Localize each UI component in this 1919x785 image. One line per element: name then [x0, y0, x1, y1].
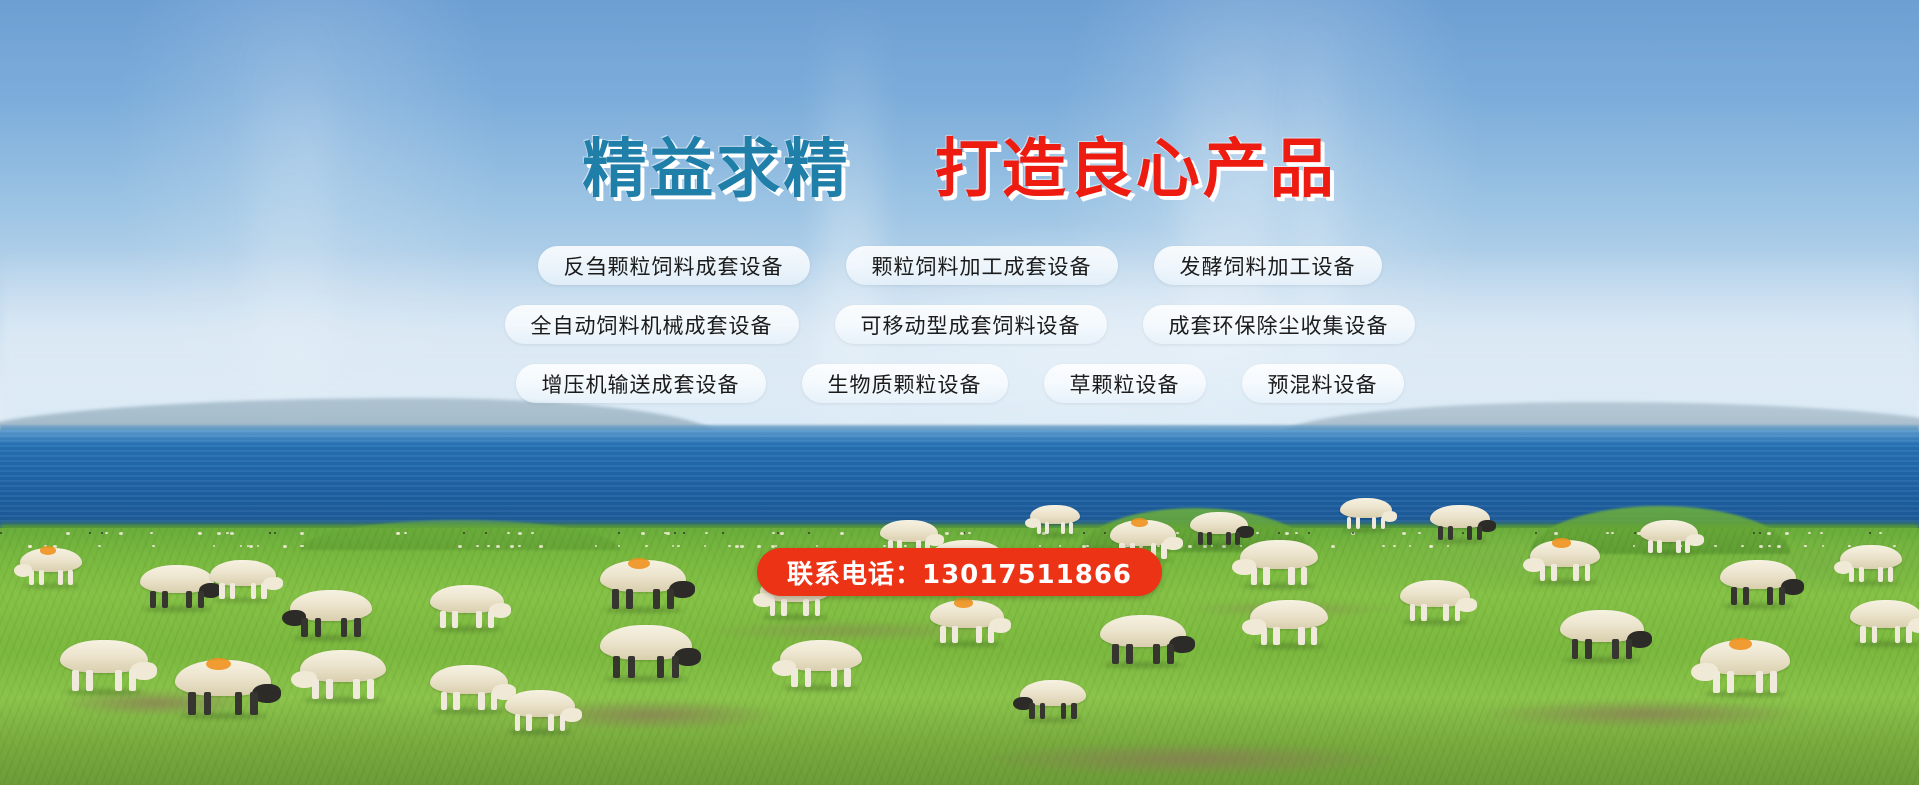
sheep	[600, 625, 692, 679]
sheep-leg	[1347, 517, 1351, 530]
distant-sheep-speck	[1606, 532, 1609, 534]
distant-sheep-speck	[404, 532, 407, 534]
product-category-row: 增压机输送成套设备生物质颗粒设备草颗粒设备预混料设备	[0, 364, 1919, 403]
sheep-leg	[1273, 627, 1279, 645]
sheep-leg	[526, 714, 532, 731]
distant-sheep-speck	[968, 532, 971, 534]
distant-sheep-speck	[230, 532, 234, 535]
sheep	[1560, 610, 1644, 660]
distant-sheep-speck	[518, 532, 522, 535]
sheep-leg	[1727, 671, 1734, 693]
distant-sheep-speck	[618, 532, 620, 534]
sheep-leg	[1061, 522, 1065, 534]
sheep-leg	[770, 599, 776, 616]
distant-sheep-speck	[1753, 532, 1755, 534]
sheep-leg	[1713, 671, 1720, 693]
distant-sheep-speck	[1382, 545, 1385, 547]
distant-sheep-speck	[1285, 532, 1289, 535]
distant-sheep-speck	[1352, 532, 1354, 534]
distant-sheep-speck	[722, 532, 724, 534]
sheep-leg	[1438, 526, 1443, 540]
distant-sheep-speck	[704, 545, 706, 547]
contact-banner: 联系电话：13017511866	[0, 548, 1919, 596]
sheep	[1030, 505, 1080, 535]
sheep-leg	[1298, 627, 1304, 645]
contact-phone-button[interactable]: 联系电话：13017511866	[757, 548, 1162, 596]
sheep-leg	[1421, 604, 1427, 621]
product-category-pill[interactable]: 草颗粒设备	[1044, 364, 1206, 403]
distant-sheep-speck	[1409, 545, 1411, 547]
distant-sheep-speck	[1554, 532, 1558, 535]
distant-sheep-speck	[645, 545, 648, 547]
sheep-leg	[672, 656, 679, 678]
sheep-leg	[1311, 627, 1317, 645]
distant-sheep-speck	[1418, 532, 1421, 534]
distant-sheep-speck	[485, 532, 487, 534]
distant-sheep-speck	[1083, 532, 1085, 534]
distant-sheep-speck	[152, 545, 155, 547]
product-category-pill[interactable]: 增压机输送成套设备	[516, 364, 766, 403]
distant-sheep-speck	[119, 532, 123, 535]
sheep-leg	[1872, 626, 1878, 644]
sheep	[1850, 600, 1919, 644]
sheep-leg	[1261, 627, 1267, 645]
sheep-leg	[1381, 517, 1385, 530]
sheep-leg	[831, 668, 838, 687]
sheep-leg	[1153, 644, 1160, 664]
product-category-row: 反刍颗粒饲料成套设备颗粒饲料加工成套设备发酵饲料加工设备	[0, 246, 1919, 285]
distant-sheep-speck	[595, 545, 597, 547]
distant-sheep-speck	[463, 532, 465, 534]
product-category-pill[interactable]: 反刍颗粒饲料成套设备	[538, 246, 810, 285]
sheep-leg	[315, 618, 322, 637]
distant-sheep-speck	[1393, 545, 1396, 547]
sheep-leg	[1356, 517, 1360, 530]
sheep-leg	[1895, 626, 1901, 644]
sheep-leg	[1126, 644, 1133, 664]
product-category-pill[interactable]: 全自动饲料机械成套设备	[505, 305, 799, 344]
sheep-leg	[1585, 639, 1592, 659]
distant-sheep-speck	[683, 532, 685, 534]
sheep-paint-mark	[1552, 538, 1570, 547]
distant-sheep-speck	[1308, 532, 1310, 534]
distant-sheep-speck	[274, 532, 276, 534]
distant-sheep-speck	[1759, 532, 1761, 534]
sheep-paint-mark	[206, 658, 231, 670]
distant-sheep-speck	[1879, 532, 1882, 534]
distant-sheep-speck	[705, 532, 708, 534]
distant-sheep-speck	[1611, 532, 1614, 534]
sheep	[930, 600, 1004, 644]
distant-sheep-speck	[1256, 532, 1259, 534]
sheep-leg	[1448, 526, 1453, 540]
distant-sheep-speck	[300, 532, 304, 535]
sheep-leg	[1626, 639, 1633, 659]
distant-sheep-speck	[1633, 545, 1635, 547]
distant-sheep-speck	[240, 545, 242, 547]
product-category-pill[interactable]: 颗粒饲料加工成套设备	[846, 246, 1118, 285]
sheep-leg	[86, 670, 93, 691]
sheep-leg	[478, 692, 484, 710]
page-title: 精益求精 打造良心产品	[0, 138, 1919, 202]
distant-sheep-speck	[1447, 545, 1449, 547]
sheep-leg	[1045, 522, 1049, 534]
sheep-leg	[613, 656, 620, 678]
sheep-leg	[72, 670, 79, 691]
sheep-leg	[1770, 671, 1777, 693]
distant-sheep-speck	[1869, 532, 1871, 534]
sheep-leg	[312, 679, 319, 699]
distant-sheep-speck	[476, 545, 479, 547]
sheep-leg	[488, 611, 494, 629]
distant-sheep-speck	[1104, 532, 1106, 534]
sheep-paint-mark	[954, 598, 973, 608]
sheep-leg	[1455, 604, 1461, 621]
product-category-pill[interactable]: 生物质颗粒设备	[802, 364, 1008, 403]
sheep-leg	[1029, 703, 1034, 719]
sheep	[1020, 680, 1086, 720]
sheep	[1250, 600, 1328, 646]
distant-sheep-speck	[269, 532, 271, 534]
distant-sheep-speck	[775, 545, 777, 547]
distant-sheep-speck	[728, 545, 731, 547]
sheep	[1340, 498, 1392, 530]
distant-sheep-speck	[507, 532, 510, 534]
sheep-leg	[1112, 644, 1119, 664]
distant-sheep-speck	[1768, 545, 1771, 547]
distant-sheep-speck	[1808, 532, 1811, 534]
distant-sheep-speck	[772, 532, 775, 534]
distant-sheep-speck	[101, 532, 103, 534]
sheep-leg	[940, 626, 946, 644]
sheep-leg	[815, 599, 821, 616]
distant-sheep-speck	[1741, 545, 1744, 547]
sheep-leg	[367, 679, 374, 699]
promo-banner: 精益求精 打造良心产品 反刍颗粒饲料成套设备颗粒饲料加工成套设备发酵饲料加工设备…	[0, 0, 1919, 785]
sheep-leg	[791, 668, 798, 687]
distant-sheep-speck	[664, 532, 667, 534]
dirt-patch	[1480, 700, 1810, 728]
dirt-patch	[980, 742, 1400, 776]
distant-sheep-speck	[150, 532, 153, 534]
distant-sheep-speck	[945, 532, 949, 535]
distant-sheep-speck	[816, 545, 818, 547]
sheep-leg	[301, 618, 308, 637]
product-category-pill[interactable]: 预混料设备	[1242, 364, 1404, 403]
sheep-leg	[1612, 639, 1619, 659]
distant-sheep-speck	[257, 545, 259, 547]
sheep-leg	[1906, 626, 1912, 644]
product-category-pill[interactable]: 成套环保除尘收集设备	[1143, 305, 1415, 344]
sheep	[300, 650, 386, 700]
sheep-leg	[803, 599, 809, 616]
sheep-leg	[441, 692, 447, 710]
distant-sheep-speck	[960, 532, 964, 535]
sheep	[1430, 505, 1490, 541]
sheep-leg	[1167, 644, 1174, 664]
sheep-leg	[491, 692, 497, 710]
sheep	[60, 640, 148, 692]
sheep-leg	[560, 714, 566, 731]
sheep-leg	[1069, 522, 1073, 534]
distant-sheep-speck	[1714, 545, 1717, 547]
sheep-leg	[353, 679, 360, 699]
product-category-pill[interactable]: 可移动型成套饲料设备	[835, 305, 1107, 344]
sheep-leg	[1756, 671, 1763, 693]
sheep-paint-mark	[1729, 638, 1752, 650]
distant-sheep-speck	[1086, 545, 1089, 547]
distant-sheep-speck	[1402, 532, 1406, 535]
sheep-leg	[781, 599, 787, 616]
distant-sheep-speck	[1039, 545, 1041, 547]
sheep-leg	[515, 714, 521, 731]
distant-sheep-speck	[0, 532, 2, 534]
distant-sheep-speck	[301, 545, 304, 547]
sheep-leg	[326, 679, 333, 699]
sheep-leg	[1061, 703, 1066, 719]
headline-part-a: 精益求精	[582, 133, 850, 207]
sheep-leg	[115, 670, 122, 691]
distant-sheep-speck	[518, 545, 521, 547]
sheep-leg	[1572, 639, 1579, 659]
sheep-leg	[1477, 526, 1482, 540]
distant-sheep-speck	[396, 532, 400, 535]
sheep-leg	[1860, 626, 1866, 644]
distant-sheep-speck	[1822, 545, 1824, 547]
sheep	[780, 640, 862, 688]
sheep-leg	[235, 692, 243, 714]
distant-sheep-speck	[1278, 532, 1280, 534]
sheep-leg	[354, 618, 361, 637]
distant-sheep-speck	[226, 532, 229, 534]
sheep-leg	[440, 611, 446, 629]
sheep	[505, 690, 575, 732]
sheep-leg	[1207, 532, 1212, 546]
headline-part-b: 打造良心产品	[935, 133, 1337, 207]
distant-sheep-speck	[1785, 532, 1789, 535]
distant-sheep-speck	[1767, 532, 1771, 535]
distant-sheep-speck	[641, 532, 645, 535]
sheep-leg	[844, 668, 851, 687]
sheep-leg	[1372, 517, 1376, 530]
sheep-leg	[204, 692, 212, 714]
sheep-leg	[453, 692, 459, 710]
distant-sheep-speck	[1804, 545, 1806, 547]
sheep-leg	[1071, 703, 1076, 719]
distant-sheep-speck	[672, 545, 674, 547]
sheep-leg	[188, 692, 196, 714]
distant-sheep-speck	[677, 545, 680, 547]
distant-sheep-speck	[780, 532, 784, 535]
sheep-leg	[1198, 532, 1203, 546]
sheep-leg	[628, 656, 635, 678]
sheep-leg	[1467, 526, 1472, 540]
sheep-leg	[476, 611, 482, 629]
sheep-leg	[548, 714, 554, 731]
sheep	[290, 590, 372, 638]
distant-sheep-speck	[531, 532, 534, 534]
product-category-row: 全自动饲料机械成套设备可移动型成套饲料设备成套环保除尘收集设备	[0, 305, 1919, 344]
distant-sheep-speck	[674, 532, 676, 534]
sheep-leg	[988, 626, 994, 644]
sheep-leg	[452, 611, 458, 629]
product-category-pill[interactable]: 发酵饲料加工设备	[1154, 246, 1382, 285]
sheep-leg	[250, 692, 258, 714]
sheep-leg	[1226, 532, 1231, 546]
distant-sheep-speck	[1176, 532, 1179, 534]
distant-sheep-speck	[105, 532, 108, 534]
distant-sheep-speck	[487, 545, 490, 547]
product-category-list: 反刍颗粒饲料成套设备颗粒饲料加工成套设备发酵饲料加工设备全自动饲料机械成套设备可…	[0, 246, 1919, 423]
sheep	[175, 660, 271, 716]
distant-sheep-speck	[1634, 532, 1636, 534]
distant-sheep-speck	[1059, 545, 1061, 547]
distant-sheep-speck	[777, 532, 779, 534]
sheep-leg	[976, 626, 982, 644]
distant-sheep-speck	[198, 532, 201, 534]
distant-sheep-speck	[808, 532, 810, 534]
distant-sheep-speck	[618, 545, 620, 547]
sheep-leg	[129, 670, 136, 691]
distant-sheep-speck	[98, 545, 101, 547]
distant-sheep-speck	[840, 532, 844, 535]
distant-sheep-speck	[213, 545, 215, 547]
distant-sheep-speck	[1535, 532, 1537, 534]
distant-sheep-speck	[1295, 532, 1298, 534]
distant-sheep-speck	[1820, 532, 1823, 534]
sheep-leg	[1037, 522, 1041, 534]
sheep-leg	[1410, 604, 1416, 621]
distant-sheep-speck	[217, 532, 221, 535]
sheep	[430, 665, 508, 711]
sheep	[1700, 640, 1790, 694]
sheep-leg	[657, 656, 664, 678]
distant-sheep-speck	[89, 532, 91, 534]
sheep-leg	[1040, 703, 1045, 719]
sheep-leg	[341, 618, 348, 637]
distant-sheep-speck	[66, 532, 70, 535]
sheep-leg	[1443, 604, 1449, 621]
sheep-leg	[805, 668, 812, 687]
sheep	[1100, 615, 1186, 665]
sheep-leg	[952, 626, 958, 644]
